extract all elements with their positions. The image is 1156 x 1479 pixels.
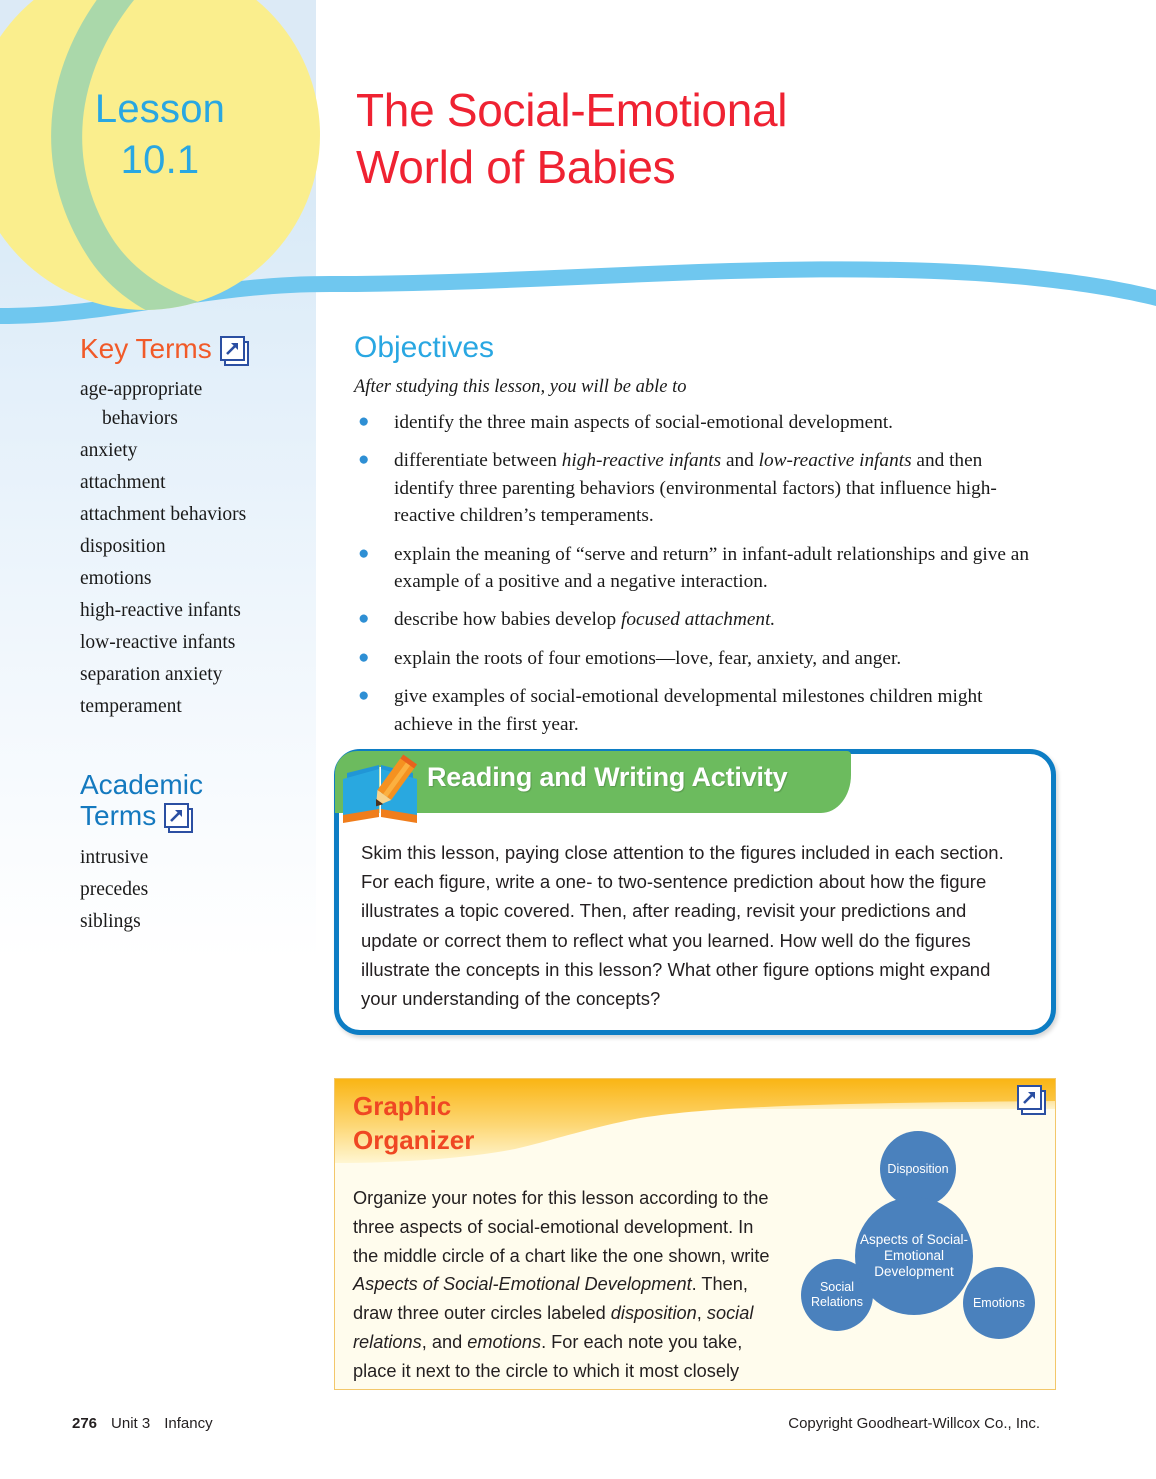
reading-writing-banner: Reading and Writing Activity xyxy=(335,751,815,813)
academic-terms-heading-line-2: Terms xyxy=(80,800,156,831)
page-title-line-2: World of Babies xyxy=(356,139,996,196)
graphic-organizer-diagram: Disposition Aspects of Social-Emotional … xyxy=(795,1131,1045,1381)
objective-item: ● identify the three main aspects of soc… xyxy=(354,409,1034,436)
diagram-bubble-center: Aspects of Social-Emotional Development xyxy=(855,1197,973,1315)
open-book-pencil-icon xyxy=(341,753,425,823)
key-term-item: age-appropriate xyxy=(80,374,310,406)
key-term-item: low-reactive infants xyxy=(80,627,310,659)
key-term-item: temperament xyxy=(80,691,310,723)
academic-terms-list: intrusive precedes siblings xyxy=(80,842,310,938)
textbook-page: Lesson 10.1 The Social-Emotional World o… xyxy=(0,0,1156,1479)
graphic-organizer-box: Graphic Organizer Organize your notes fo… xyxy=(334,1078,1056,1390)
objective-text: explain the meaning of “serve and return… xyxy=(394,541,1034,596)
objective-text: identify the three main aspects of socia… xyxy=(394,409,1034,436)
page-title-line-1: The Social-Emotional xyxy=(356,82,996,139)
external-link-icon[interactable] xyxy=(1017,1085,1043,1111)
key-terms-list: age-appropriate behaviors anxiety attach… xyxy=(80,374,310,723)
objective-text: give examples of social-emotional develo… xyxy=(394,683,1034,738)
graphic-organizer-title-line-1: Graphic xyxy=(353,1089,474,1123)
copyright-notice: Copyright Goodheart-Willcox Co., Inc. xyxy=(788,1415,1040,1432)
objective-item: ● give examples of social-emotional deve… xyxy=(354,683,1034,738)
key-term-item: disposition xyxy=(80,531,310,563)
key-term-item: emotions xyxy=(80,563,310,595)
academic-term-item: intrusive xyxy=(80,842,310,874)
objective-item: ● differentiate between high-reactive in… xyxy=(354,447,1034,529)
external-link-icon[interactable] xyxy=(164,803,190,829)
sidebar: Key Terms age-appropriate behaviors anxi… xyxy=(80,333,310,938)
reading-writing-activity-box: Reading and Writing Activity Skim this l… xyxy=(334,749,1056,1035)
diagram-bubble-emotions: Emotions xyxy=(963,1267,1035,1339)
footer-unit-title: Infancy xyxy=(164,1415,212,1432)
lesson-badge: Lesson 10.1 xyxy=(0,0,320,310)
objective-text: differentiate between high-reactive infa… xyxy=(394,447,1034,529)
objective-item: ● explain the meaning of “serve and retu… xyxy=(354,541,1034,596)
bullet-icon: ● xyxy=(354,606,394,633)
graphic-organizer-title-line-2: Organizer xyxy=(353,1123,474,1157)
footer-unit: Unit 3 xyxy=(111,1415,150,1432)
page-footer: 276 Unit 3 Infancy Copyright Goodheart-W… xyxy=(0,1415,1156,1439)
key-term-item: high-reactive infants xyxy=(80,595,310,627)
key-terms-heading: Key Terms xyxy=(80,333,310,364)
graphic-organizer-body: Organize your notes for this lesson acco… xyxy=(353,1184,773,1390)
objective-item: ● explain the roots of four emotions—lov… xyxy=(354,645,1034,672)
key-term-item: anxiety xyxy=(80,435,310,467)
academic-terms-section: Academic Terms intrusive precedes siblin… xyxy=(80,769,310,938)
academic-terms-heading-line-1: Academic xyxy=(80,769,310,800)
page-title: The Social-Emotional World of Babies xyxy=(356,82,996,195)
bullet-icon: ● xyxy=(354,541,394,596)
objective-text: explain the roots of four emotions—love,… xyxy=(394,645,1034,672)
page-number: 276 xyxy=(72,1415,97,1432)
objectives-list: ● identify the three main aspects of soc… xyxy=(354,409,1034,738)
key-terms-heading-label: Key Terms xyxy=(80,333,212,364)
external-link-icon[interactable] xyxy=(220,336,246,362)
lesson-number: 10.1 xyxy=(121,135,200,186)
footer-left: 276 Unit 3 Infancy xyxy=(72,1415,213,1432)
objective-text: describe how babies develop focused atta… xyxy=(394,606,1034,633)
reading-writing-banner-title: Reading and Writing Activity xyxy=(427,762,787,793)
key-term-item: attachment behaviors xyxy=(80,499,310,531)
diagram-bubble-disposition: Disposition xyxy=(880,1131,956,1207)
bullet-icon: ● xyxy=(354,645,394,672)
graphic-organizer-title: Graphic Organizer xyxy=(353,1089,474,1158)
bullet-icon: ● xyxy=(354,683,394,738)
objectives-title: Objectives xyxy=(354,333,1034,363)
bullet-icon: ● xyxy=(354,447,394,529)
objectives-section: Objectives After studying this lesson, y… xyxy=(354,333,1034,749)
academic-term-item: siblings xyxy=(80,906,310,938)
reading-writing-body: Skim this lesson, paying close attention… xyxy=(361,838,1021,1013)
objective-item: ● describe how babies develop focused at… xyxy=(354,606,1034,633)
lesson-badge-text: Lesson 10.1 xyxy=(0,0,320,310)
lesson-label: Lesson xyxy=(95,84,225,135)
objectives-lead: After studying this lesson, you will be … xyxy=(354,377,1034,398)
academic-term-item: precedes xyxy=(80,874,310,906)
key-term-item: attachment xyxy=(80,467,310,499)
academic-terms-heading: Academic Terms xyxy=(80,769,310,832)
key-term-item: separation anxiety xyxy=(80,659,310,691)
bullet-icon: ● xyxy=(354,409,394,436)
key-term-item-cont: behaviors xyxy=(80,403,310,435)
